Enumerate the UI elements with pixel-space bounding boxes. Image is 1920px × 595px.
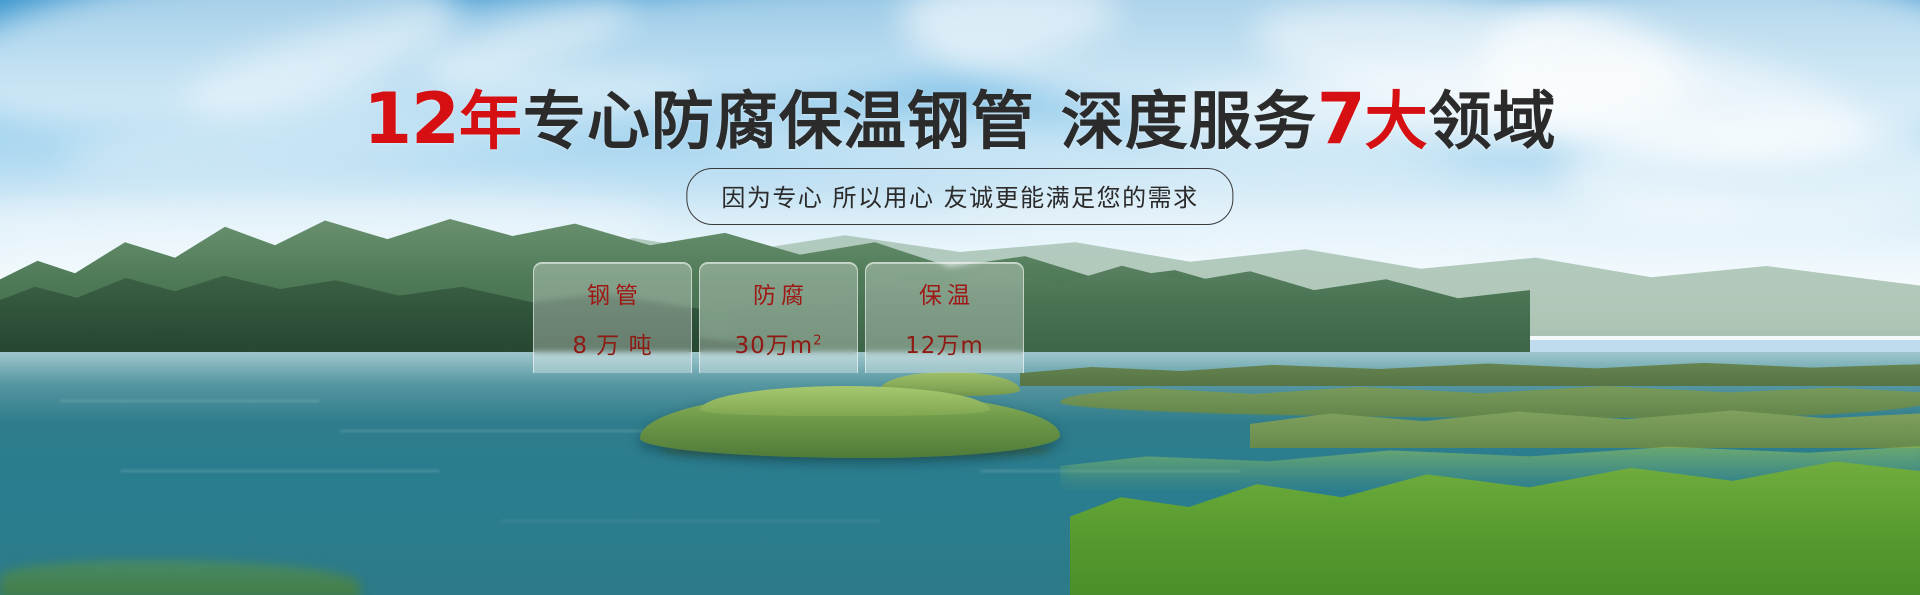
- headline-years-unit: 年: [459, 85, 523, 158]
- stat-card-insulation: 保温 12万m: [865, 262, 1024, 373]
- stat-card-title: 钢管: [582, 276, 643, 310]
- headline-fields-text: 领域: [1429, 85, 1557, 158]
- headline-service-text: 深度服务: [1061, 85, 1317, 158]
- stat-value-text: 8 万 吨: [572, 333, 652, 359]
- subtitle-pill: 因为专心 所以用心 友诚更能满足您的需求: [686, 168, 1233, 225]
- water-ripple: [500, 520, 880, 522]
- stat-card-title: 保温: [914, 276, 975, 310]
- stat-value-superscript: 2: [813, 333, 822, 348]
- water-ripple: [60, 400, 320, 402]
- stat-card-group: 钢管 8 万 吨 防腐 30万m2 保温 12万m: [533, 262, 1024, 373]
- stat-value-text: 12万m: [905, 333, 984, 359]
- headline: 12年专心防腐保温钢管深度服务7大领域: [0, 84, 1920, 154]
- headline-fields-number: 7: [1317, 78, 1365, 160]
- stat-card-title: 防腐: [748, 276, 809, 310]
- stat-value-text: 30万m: [735, 333, 814, 359]
- headline-years-number: 12: [363, 78, 458, 160]
- stat-card-steel-pipe: 钢管 8 万 吨: [533, 262, 692, 373]
- stat-card-value: 30万m2: [735, 326, 823, 360]
- water-ripple: [120, 470, 440, 472]
- stat-card-value: 8 万 吨: [572, 326, 652, 360]
- headline-fields-da: 大: [1365, 85, 1429, 158]
- stat-card-anticorrosion: 防腐 30万m2: [699, 262, 858, 373]
- promo-banner: 12年专心防腐保温钢管深度服务7大领域 因为专心 所以用心 友诚更能满足您的需求…: [0, 0, 1920, 595]
- stat-card-value: 12万m: [905, 326, 984, 360]
- headline-main-text: 专心防腐保温钢管: [523, 85, 1035, 158]
